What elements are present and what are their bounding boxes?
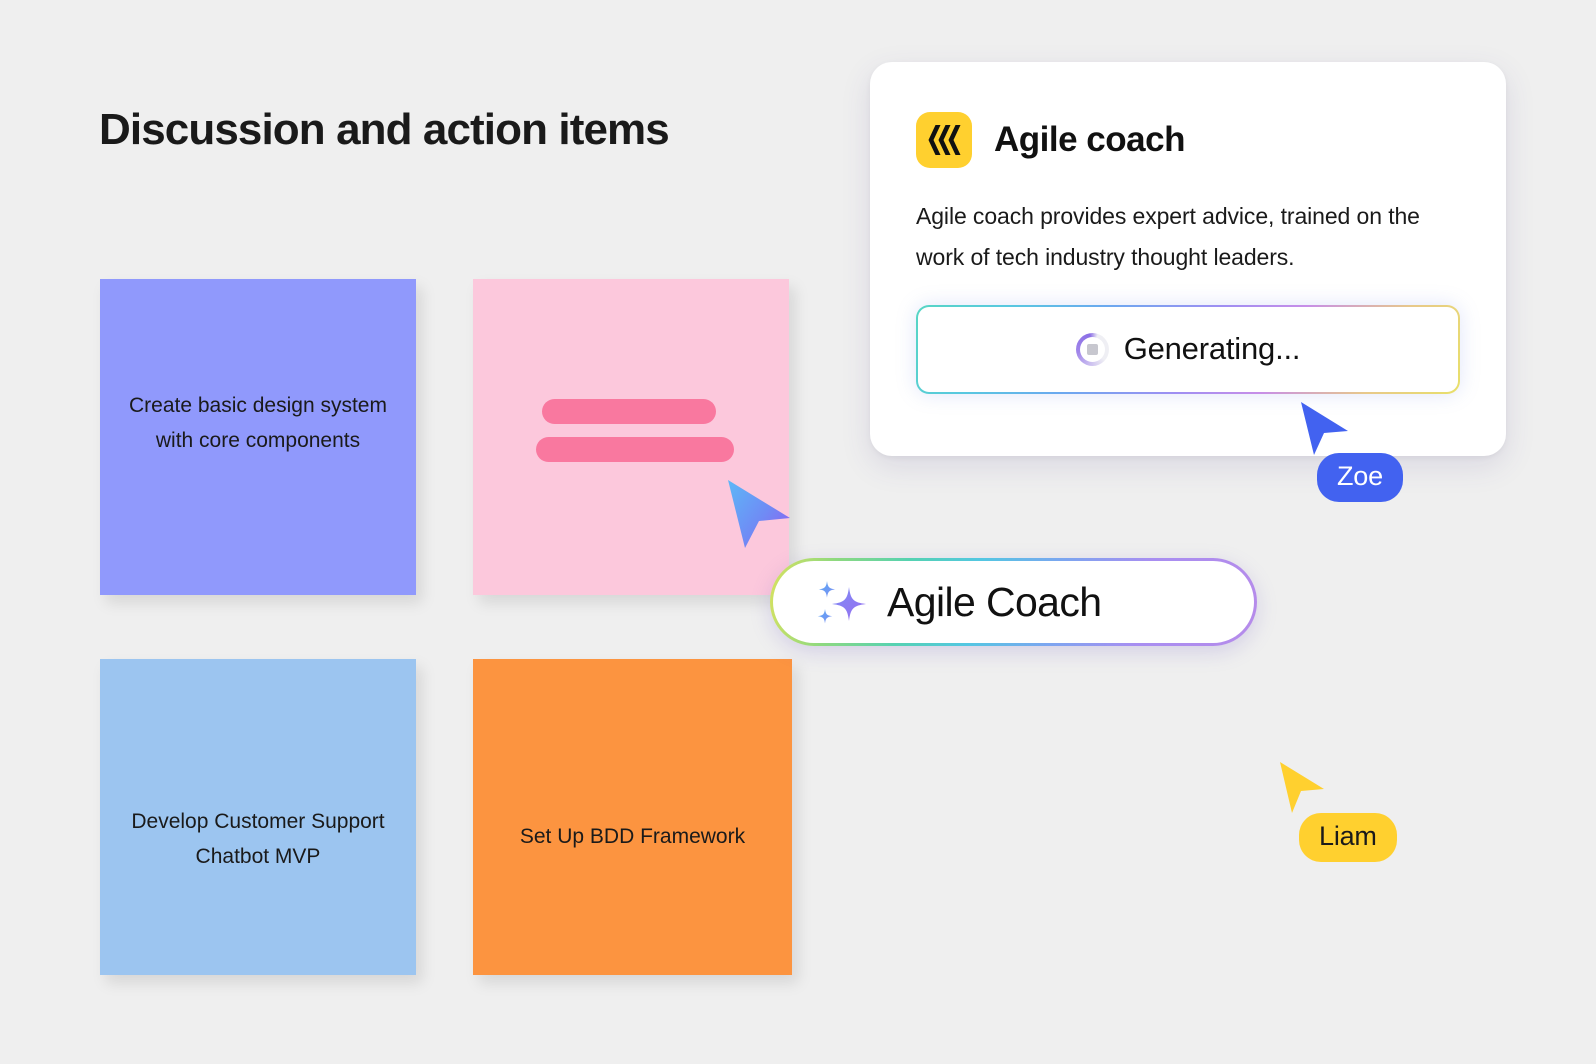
stop-square-icon <box>1087 344 1098 355</box>
sticky-note-text: Create basic design system with core com… <box>125 388 390 458</box>
card-title: Agile coach <box>994 120 1185 160</box>
skeleton-bar <box>536 437 734 462</box>
sticky-note-chatbot-mvp[interactable]: Develop Customer Support Chatbot MVP <box>100 659 416 975</box>
miro-logo-icon <box>916 112 972 168</box>
sticky-note-text: Develop Customer Support Chatbot MVP <box>125 804 390 874</box>
agile-coach-pill-label: Agile Coach <box>887 579 1101 626</box>
cursor-zoe: Zoe <box>1296 400 1352 458</box>
page-title: Discussion and action items <box>99 105 669 155</box>
sticky-note-bdd-framework[interactable]: Set Up BDD Framework <box>473 659 792 975</box>
generating-label: Generating... <box>1124 331 1301 367</box>
cursor-liam: Liam <box>1275 760 1327 816</box>
agile-coach-card[interactable]: Agile coach Agile coach provides expert … <box>870 62 1506 456</box>
card-header: Agile coach <box>916 112 1460 168</box>
miro-board-canvas[interactable]: Discussion and action items Create basic… <box>0 0 1596 1064</box>
skeleton-bar <box>542 399 716 424</box>
agile-coach-pill-button[interactable]: Agile Coach <box>770 558 1257 646</box>
cursor-label-zoe: Zoe <box>1317 453 1403 502</box>
sticky-note-design-system[interactable]: Create basic design system with core com… <box>100 279 416 595</box>
cursor-label-liam: Liam <box>1299 813 1397 862</box>
loading-spinner-icon <box>1076 333 1109 366</box>
sparkles-icon <box>807 571 869 633</box>
cursor-pointer-gradient <box>722 478 796 552</box>
generating-status-field[interactable]: Generating... <box>916 305 1460 394</box>
sticky-note-text: Set Up BDD Framework <box>499 819 767 854</box>
card-description: Agile coach provides expert advice, trai… <box>916 196 1460 278</box>
